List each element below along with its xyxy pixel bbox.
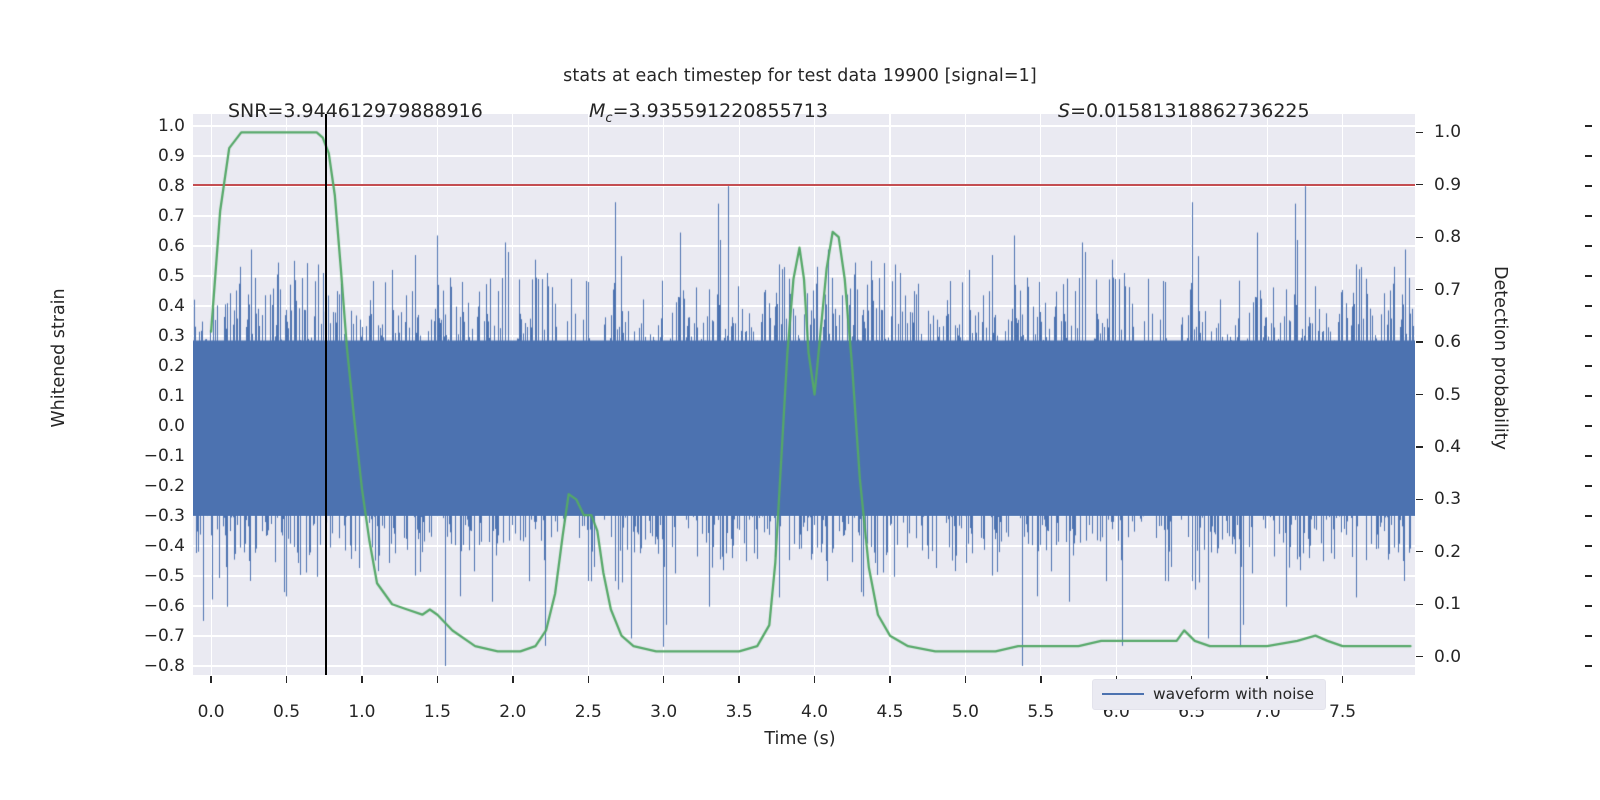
y-axis-label-right: Detection probability	[1490, 258, 1510, 458]
y-tick-label-left: −0.1	[144, 446, 185, 466]
x-tick-label: 3.0	[650, 702, 677, 722]
x-tick-label: 2.5	[575, 702, 602, 722]
y-tick-mark-left	[1585, 155, 1592, 156]
y-tick-mark-right	[1416, 289, 1423, 290]
x-tick-mark	[437, 676, 438, 683]
x-tick-label: 5.5	[1027, 702, 1054, 722]
x-tick-mark	[1342, 676, 1343, 683]
y-tick-mark-right	[1416, 184, 1423, 185]
detection-probability-series	[193, 114, 1415, 675]
y-tick-mark-left	[1585, 215, 1592, 216]
x-tick-mark	[512, 676, 513, 683]
y-tick-label-left: 0.6	[158, 236, 185, 256]
x-tick-label: 2.0	[499, 702, 526, 722]
y-tick-label-right: 0.0	[1434, 647, 1461, 667]
x-tick-label: 1.0	[348, 702, 375, 722]
y-tick-label-left: −0.3	[144, 506, 185, 526]
x-tick-mark	[361, 676, 362, 683]
y-tick-mark-left	[1585, 575, 1592, 576]
y-tick-mark-left	[1585, 545, 1592, 546]
y-tick-mark-left	[1585, 605, 1592, 606]
x-tick-mark	[889, 676, 890, 683]
y-tick-label-left: 0.7	[158, 206, 185, 226]
y-tick-label-right: 0.2	[1434, 542, 1461, 562]
x-tick-label: 0.0	[198, 702, 225, 722]
y-tick-mark-left	[1585, 275, 1592, 276]
annotation-snr: SNR=3.944612979888916	[228, 100, 483, 122]
x-tick-mark	[588, 676, 589, 683]
y-tick-label-left: 0.2	[158, 356, 185, 376]
y-tick-label-left: −0.7	[144, 626, 185, 646]
figure: stats at each timestep for test data 199…	[0, 0, 1600, 800]
y-tick-mark-right	[1416, 341, 1423, 342]
y-tick-mark-left	[1585, 335, 1592, 336]
legend[interactable]: waveform with noise	[1092, 679, 1326, 710]
x-tick-label: 0.5	[273, 702, 300, 722]
y-tick-mark-right	[1416, 551, 1423, 552]
y-tick-label-left: −0.6	[144, 596, 185, 616]
y-tick-mark-left	[1585, 635, 1592, 636]
x-tick-mark	[965, 676, 966, 683]
y-tick-mark-right	[1416, 499, 1423, 500]
x-tick-mark	[286, 676, 287, 683]
y-tick-label-left: 1.0	[158, 116, 185, 136]
y-tick-mark-right	[1416, 446, 1423, 447]
x-tick-label: 5.0	[952, 702, 979, 722]
y-tick-mark-left	[1585, 665, 1592, 666]
x-tick-label: 4.5	[876, 702, 903, 722]
y-tick-label-right: 0.8	[1434, 227, 1461, 247]
y-tick-mark-right	[1416, 394, 1423, 395]
chart-title: stats at each timestep for test data 199…	[0, 66, 1600, 86]
legend-label-waveform: waveform with noise	[1153, 685, 1314, 703]
y-tick-mark-left	[1585, 485, 1592, 486]
y-tick-label-right: 0.6	[1434, 332, 1461, 352]
x-tick-mark	[814, 676, 815, 683]
y-tick-label-left: 0.5	[158, 266, 185, 286]
y-tick-mark-left	[1585, 365, 1592, 366]
x-tick-label: 1.5	[424, 702, 451, 722]
x-tick-label: 3.5	[726, 702, 753, 722]
merger-time-marker-line	[325, 114, 327, 675]
y-tick-mark-right	[1416, 656, 1423, 657]
y-tick-mark-left	[1585, 185, 1592, 186]
y-tick-label-left: 0.0	[158, 416, 185, 436]
y-tick-mark-left	[1585, 125, 1592, 126]
y-tick-label-left: 0.3	[158, 326, 185, 346]
y-tick-label-right: 0.4	[1434, 437, 1461, 457]
annotation-significance: S=0.01581318862736225	[1058, 100, 1310, 122]
x-tick-label: 4.0	[801, 702, 828, 722]
y-tick-label-left: 0.4	[158, 296, 185, 316]
y-tick-label-left: 0.9	[158, 146, 185, 166]
y-tick-label-left: −0.8	[144, 656, 185, 676]
y-tick-mark-left	[1585, 395, 1592, 396]
y-axis-label-left: Whitened strain	[49, 258, 69, 458]
y-tick-mark-right	[1416, 237, 1423, 238]
y-tick-label-right: 1.0	[1434, 122, 1461, 142]
y-tick-mark-left	[1585, 515, 1592, 516]
y-tick-mark-left	[1585, 305, 1592, 306]
x-tick-mark	[738, 676, 739, 683]
y-tick-label-left: −0.2	[144, 476, 185, 496]
y-tick-label-left: −0.4	[144, 536, 185, 556]
x-tick-mark	[663, 676, 664, 683]
annotation-chirp-mass: Mc=3.935591220855713	[589, 100, 828, 126]
x-tick-label: 7.5	[1329, 702, 1356, 722]
y-tick-label-right: 0.7	[1434, 280, 1461, 300]
y-tick-mark-left	[1585, 455, 1592, 456]
x-axis-label: Time (s)	[0, 729, 1600, 749]
x-tick-mark	[1040, 676, 1041, 683]
y-tick-label-right: 0.5	[1434, 385, 1461, 405]
y-tick-label-left: 0.8	[158, 176, 185, 196]
y-tick-mark-left	[1585, 245, 1592, 246]
y-tick-label-right: 0.9	[1434, 175, 1461, 195]
y-tick-mark-right	[1416, 132, 1423, 133]
y-tick-label-right: 0.1	[1434, 594, 1461, 614]
y-tick-mark-right	[1416, 604, 1423, 605]
legend-swatch-waveform	[1102, 693, 1144, 696]
y-tick-label-right: 0.3	[1434, 489, 1461, 509]
x-tick-mark	[210, 676, 211, 683]
plot-area[interactable]	[193, 114, 1415, 675]
y-tick-mark-left	[1585, 425, 1592, 426]
y-tick-label-left: −0.5	[144, 566, 185, 586]
y-tick-label-left: 0.1	[158, 386, 185, 406]
